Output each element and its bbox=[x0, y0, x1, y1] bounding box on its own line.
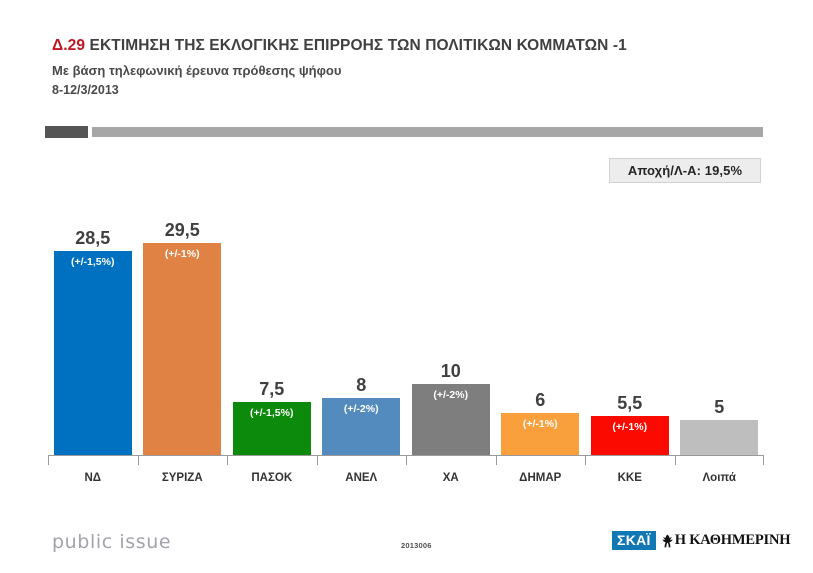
header: Δ.29 ΕΚΤΙΜΗΣΗ ΤΗΣ ΕΚΛΟΓΙΚΗΣ ΕΠΙΡΡΟΗΣ ΤΩΝ… bbox=[52, 36, 772, 99]
fieldwork-date-range: 8-12/3/2013 bbox=[52, 82, 772, 99]
bar-column-nd: 28,5 (+/-1,5%) bbox=[48, 190, 138, 456]
x-axis-ticks bbox=[48, 456, 764, 465]
bar-nd[interactable]: (+/-1,5%) bbox=[54, 251, 132, 457]
skai-logo: ΣΚΑΪ bbox=[612, 531, 656, 550]
bar-anel[interactable]: (+/-2%) bbox=[322, 398, 400, 456]
category-label-nd: ΝΔ bbox=[48, 472, 138, 484]
bar-moe-label: (+/-1%) bbox=[165, 248, 200, 456]
bar-moe-label: (+/-1,5%) bbox=[71, 256, 114, 457]
bar-column-kke: 5,5 (+/-1%) bbox=[585, 190, 675, 456]
bar-value-label: 10 bbox=[441, 361, 461, 381]
axis-tick bbox=[406, 456, 496, 465]
bar-moe-label: (+/-1%) bbox=[523, 418, 558, 456]
bar-moe-label: (+/-1,5%) bbox=[250, 407, 293, 456]
bar-moe-label: (+/-1%) bbox=[612, 421, 647, 456]
category-label-xa: ΧΑ bbox=[406, 472, 496, 484]
bar-value-label: 5 bbox=[714, 397, 724, 417]
bar-kke[interactable]: (+/-1%) bbox=[591, 416, 669, 456]
bar-column-xa: 10 (+/-2%) bbox=[406, 190, 496, 456]
bar-value-label: 28,5 bbox=[75, 228, 110, 248]
category-label-syriza: ΣΥΡΙΖΑ bbox=[138, 472, 228, 484]
bar-column-syriza: 29,5 (+/-1%) bbox=[138, 190, 228, 456]
bar-value-label: 8 bbox=[356, 375, 366, 395]
eagle-icon bbox=[662, 534, 673, 548]
axis-tick bbox=[227, 456, 317, 465]
bar-moe-label: (+/-2%) bbox=[433, 389, 468, 456]
page-subtitle: Με βάση τηλεφωνική έρευνα πρόθεσης ψήφου bbox=[52, 62, 772, 80]
axis-tick bbox=[317, 456, 407, 465]
strip-segment-dark bbox=[45, 126, 88, 138]
page-title: Δ.29 ΕΚΤΙΜΗΣΗ ΤΗΣ ΕΚΛΟΓΙΚΗΣ ΕΠΙΡΡΟΗΣ ΤΩΝ… bbox=[52, 36, 772, 56]
bar-value-label: 7,5 bbox=[259, 379, 284, 399]
reference-code: 2013006 bbox=[401, 541, 432, 550]
bar-dimar[interactable]: (+/-1%) bbox=[501, 413, 579, 456]
bar-column-pasok: 7,5 (+/-1,5%) bbox=[227, 190, 317, 456]
bar-value-label: 5,5 bbox=[617, 393, 642, 413]
slide-canvas: Δ.29 ΕΚΤΙΜΗΣΗ ΤΗΣ ΕΚΛΟΓΙΚΗΣ ΕΠΙΡΡΟΗΣ ΤΩΝ… bbox=[0, 0, 813, 573]
kathimerini-logo: Η ΚΑΘΗΜΕΡΙΝΗ bbox=[662, 532, 791, 549]
bar-value-label: 6 bbox=[535, 390, 545, 410]
axis-tick bbox=[585, 456, 675, 465]
bar-xa[interactable]: (+/-2%) bbox=[412, 384, 490, 456]
chart-plot-area: 28,5 (+/-1,5%) 29,5 (+/-1%) 7,5 (+/-1,5%… bbox=[48, 190, 764, 456]
kathimerini-wordmark: Η ΚΑΘΗΜΕΡΙΝΗ bbox=[675, 532, 791, 549]
category-label-kke: ΚΚΕ bbox=[585, 472, 675, 484]
bar-column-anel: 8 (+/-2%) bbox=[317, 190, 407, 456]
bar-loipa[interactable] bbox=[680, 420, 758, 456]
category-label-pasok: ΠΑΣΟΚ bbox=[227, 472, 317, 484]
bar-moe-label: (+/-2%) bbox=[344, 403, 379, 456]
publisher-brand: public issue bbox=[52, 531, 171, 553]
category-label-anel: ΑΝΕΛ bbox=[317, 472, 407, 484]
media-partner-logos: ΣΚΑΪ Η ΚΑΘΗΜΕΡΙΝΗ bbox=[612, 531, 790, 550]
strip-segment-light bbox=[92, 127, 763, 137]
category-label-loipa: Λοιπά bbox=[675, 472, 765, 484]
axis-tick bbox=[675, 456, 765, 465]
bar-chart: 28,5 (+/-1,5%) 29,5 (+/-1%) 7,5 (+/-1,5%… bbox=[48, 190, 764, 468]
page-title-text: ΕΚΤΙΜΗΣΗ ΤΗΣ ΕΚΛΟΓΙΚΗΣ ΕΠΙΡΡΟΗΣ ΤΩΝ ΠΟΛΙ… bbox=[90, 37, 627, 54]
axis-tick bbox=[496, 456, 586, 465]
header-divider-strip bbox=[45, 126, 763, 138]
report-code: Δ.29 bbox=[52, 37, 85, 54]
bar-column-dimar: 6 (+/-1%) bbox=[496, 190, 586, 456]
bar-column-loipa: 5 bbox=[675, 190, 765, 456]
x-axis-category-labels: ΝΔ ΣΥΡΙΖΑ ΠΑΣΟΚ ΑΝΕΛ ΧΑ ΔΗΜΑΡ ΚΚΕ Λοιπά bbox=[48, 472, 764, 484]
bar-syriza[interactable]: (+/-1%) bbox=[143, 243, 221, 456]
category-label-dimar: ΔΗΜΑΡ bbox=[496, 472, 586, 484]
axis-tick bbox=[48, 456, 138, 465]
bar-value-label: 29,5 bbox=[165, 220, 200, 240]
abstention-badge: Αποχή/Λ-Α: 19,5% bbox=[609, 158, 761, 183]
bar-pasok[interactable]: (+/-1,5%) bbox=[233, 402, 311, 456]
axis-tick bbox=[138, 456, 228, 465]
